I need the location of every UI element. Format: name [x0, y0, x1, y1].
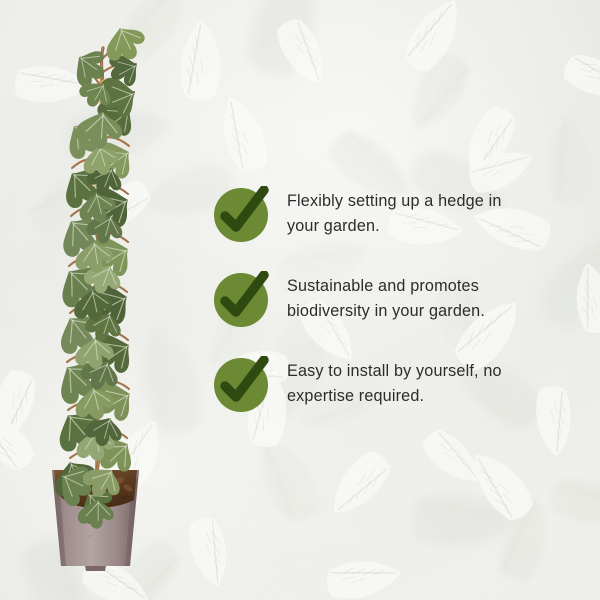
- check-circle-icon: [214, 356, 270, 412]
- benefit-line: expertise required.: [287, 384, 535, 409]
- benefit-line: your garden.: [287, 214, 535, 239]
- benefit-line: biodiversity in your garden.: [287, 299, 535, 324]
- ivy-leaves: [47, 19, 152, 531]
- benefit-text: Sustainable and promotes biodiversity in…: [287, 271, 535, 327]
- ivy-plant-image: [0, 0, 210, 600]
- benefit-line: Easy to install by yourself, no: [287, 359, 535, 384]
- check-circle-icon: [214, 271, 270, 327]
- benefits-list: Flexibly setting up a hedge in your gard…: [214, 186, 544, 441]
- benefit-item: Easy to install by yourself, no expertis…: [214, 356, 544, 441]
- benefit-item: Flexibly setting up a hedge in your gard…: [214, 186, 544, 271]
- benefit-text: Flexibly setting up a hedge in your gard…: [287, 186, 535, 242]
- infographic-canvas: Flexibly setting up a hedge in your gard…: [0, 0, 600, 600]
- benefit-line: Flexibly setting up a hedge in: [287, 189, 535, 214]
- benefit-line: Sustainable and promotes: [287, 274, 535, 299]
- check-circle-icon: [214, 186, 270, 242]
- benefit-text: Easy to install by yourself, no expertis…: [287, 356, 535, 412]
- benefit-item: Sustainable and promotes biodiversity in…: [214, 271, 544, 356]
